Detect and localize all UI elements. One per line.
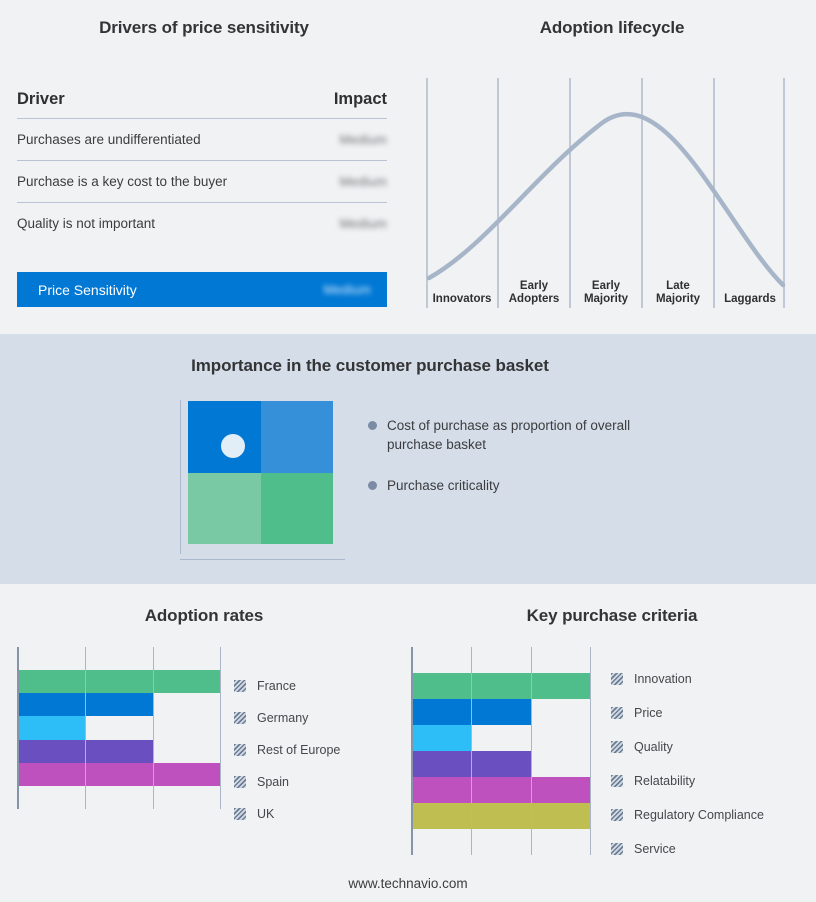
bar-row (413, 751, 591, 777)
column-header-driver: Driver (17, 90, 65, 109)
bar-row (19, 763, 221, 786)
hatch-swatch-icon (234, 776, 246, 788)
chart-gridline (153, 647, 154, 809)
impact-value: Medium (340, 132, 387, 147)
matrix-quadrant-top-left (188, 401, 261, 473)
hatch-swatch-icon (611, 707, 623, 719)
legend-item-label: Quality (634, 740, 673, 754)
legend-item: Service (611, 832, 811, 866)
adoption-rates-title: Adoption rates (0, 606, 408, 626)
adoption-lifecycle-panel: Adoption lifecycle Innovators EarlyAdopt… (408, 0, 816, 334)
key-purchase-criteria-chart (411, 647, 591, 855)
footer-url: www.technavio.com (0, 876, 816, 891)
bullet-icon (368, 481, 377, 490)
driver-label: Purchases are undifferentiated (17, 132, 201, 147)
bar-row (413, 699, 591, 725)
matrix-marker-dot (221, 434, 245, 458)
price-sensitivity-summary-row: Price Sensitivity Medium (17, 272, 387, 307)
driver-label: Quality is not important (17, 216, 155, 231)
adoption-lifecycle-title: Adoption lifecycle (408, 18, 816, 38)
lifecycle-stage-early-majority: EarlyMajority (570, 264, 642, 310)
lifecycle-stage-innovators: Innovators (426, 264, 498, 310)
hatch-swatch-icon (234, 680, 246, 692)
adoption-rates-panel: Adoption rates (0, 584, 408, 902)
legend-item-label: Service (634, 842, 676, 856)
lifecycle-stage-laggards: Laggards (714, 264, 786, 310)
matrix-quadrant-top-right (261, 401, 334, 473)
table-row: Quality is not important Medium (17, 203, 387, 244)
drivers-panel: Drivers of price sensitivity Driver Impa… (0, 0, 408, 334)
matrix-quadrants (188, 401, 333, 544)
legend-item: Purchase criticality (368, 476, 668, 495)
bar-row (413, 829, 591, 855)
legend-item: Relatability (611, 764, 811, 798)
legend-item: Cost of purchase as proportion of overal… (368, 416, 668, 454)
legend-item-label: Price (634, 706, 662, 720)
bar-regulatory-compliance (413, 777, 591, 803)
chart-bars (413, 647, 591, 855)
legend-item-label: Regulatory Compliance (634, 808, 764, 822)
legend-item: UK (234, 798, 404, 830)
adoption-rates-legend: France Germany Rest of Europe Spain UK (234, 670, 404, 830)
chart-gridline (531, 647, 532, 855)
bar-row (19, 740, 221, 763)
summary-impact-value: Medium (324, 282, 371, 297)
bar-row (413, 673, 591, 699)
hatch-swatch-icon (611, 843, 623, 855)
lifecycle-stage-labels: Innovators EarlyAdopters EarlyMajority L… (426, 264, 786, 310)
bar-row (19, 716, 221, 739)
legend-item-label: France (257, 679, 296, 693)
legend-item-label: Germany (257, 711, 308, 725)
bullet-icon (368, 421, 377, 430)
drivers-table: Driver Impact Purchases are undifferenti… (17, 90, 387, 244)
bar-uk (19, 763, 221, 786)
bar-row (413, 803, 591, 829)
legend-item-label: Relatability (634, 774, 695, 788)
bar-row (19, 647, 221, 670)
chart-y-axis (17, 647, 19, 809)
matrix-y-axis (180, 400, 181, 554)
chart-gridline (471, 647, 472, 855)
summary-label: Price Sensitivity (38, 282, 137, 298)
legend-item-label: Cost of purchase as proportion of overal… (387, 416, 668, 454)
legend-item: Germany (234, 702, 404, 734)
legend-item-label: Purchase criticality (387, 476, 500, 495)
bar-row (19, 786, 221, 809)
lifecycle-stage-early-adopters: EarlyAdopters (498, 264, 570, 310)
bar-service (413, 803, 591, 829)
impact-value: Medium (340, 174, 387, 189)
legend-item: Regulatory Compliance (611, 798, 811, 832)
key-purchase-criteria-panel: Key purchase criteria (408, 584, 816, 902)
bar-quality (413, 725, 472, 751)
hatch-swatch-icon (234, 808, 246, 820)
legend-item-label: Innovation (634, 672, 692, 686)
hatch-swatch-icon (611, 741, 623, 753)
legend-item-label: Rest of Europe (257, 743, 340, 757)
chart-gridline (590, 647, 591, 855)
bar-france (19, 670, 221, 693)
importance-matrix-chart (180, 400, 345, 560)
chart-gridline (85, 647, 86, 809)
matrix-x-axis (180, 559, 345, 560)
matrix-quadrant-bottom-left (188, 473, 261, 545)
chart-gridline (220, 647, 221, 809)
column-header-impact: Impact (334, 90, 387, 109)
adoption-rates-chart (17, 647, 221, 809)
bar-row (19, 693, 221, 716)
lifecycle-stage-late-majority: LateMajority (642, 264, 714, 310)
key-purchase-criteria-legend: Innovation Price Quality Relatability Re… (611, 662, 811, 866)
importance-panel: Importance in the customer purchase bask… (0, 334, 816, 584)
chart-bars (19, 647, 221, 809)
legend-item: Quality (611, 730, 811, 764)
table-row: Purchase is a key cost to the buyer Medi… (17, 161, 387, 203)
matrix-quadrant-bottom-right (261, 473, 334, 545)
hatch-swatch-icon (611, 775, 623, 787)
importance-title: Importance in the customer purchase bask… (0, 356, 740, 376)
bar-rest-of-europe (19, 716, 86, 739)
hatch-swatch-icon (234, 712, 246, 724)
legend-item: Rest of Europe (234, 734, 404, 766)
legend-item-label: Spain (257, 775, 289, 789)
legend-item: Price (611, 696, 811, 730)
bar-spain (19, 740, 154, 763)
chart-y-axis (411, 647, 413, 855)
bar-row (19, 670, 221, 693)
impact-value: Medium (340, 216, 387, 231)
legend-item: France (234, 670, 404, 702)
legend-item: Spain (234, 766, 404, 798)
hatch-swatch-icon (611, 809, 623, 821)
bar-innovation (413, 673, 591, 699)
bar-germany (19, 693, 154, 716)
bar-price (413, 699, 532, 725)
bar-row (413, 647, 591, 673)
legend-item-label: UK (257, 807, 274, 821)
table-row: Purchases are undifferentiated Medium (17, 119, 387, 161)
drivers-title: Drivers of price sensitivity (0, 18, 408, 38)
bar-row (413, 777, 591, 803)
driver-label: Purchase is a key cost to the buyer (17, 174, 227, 189)
hatch-swatch-icon (611, 673, 623, 685)
importance-legend: Cost of purchase as proportion of overal… (368, 416, 668, 517)
legend-item: Innovation (611, 662, 811, 696)
drivers-table-header: Driver Impact (17, 90, 387, 119)
key-purchase-criteria-title: Key purchase criteria (408, 606, 816, 626)
bar-relatability (413, 751, 532, 777)
hatch-swatch-icon (234, 744, 246, 756)
lifecycle-curve (429, 114, 783, 285)
bar-row (413, 725, 591, 751)
